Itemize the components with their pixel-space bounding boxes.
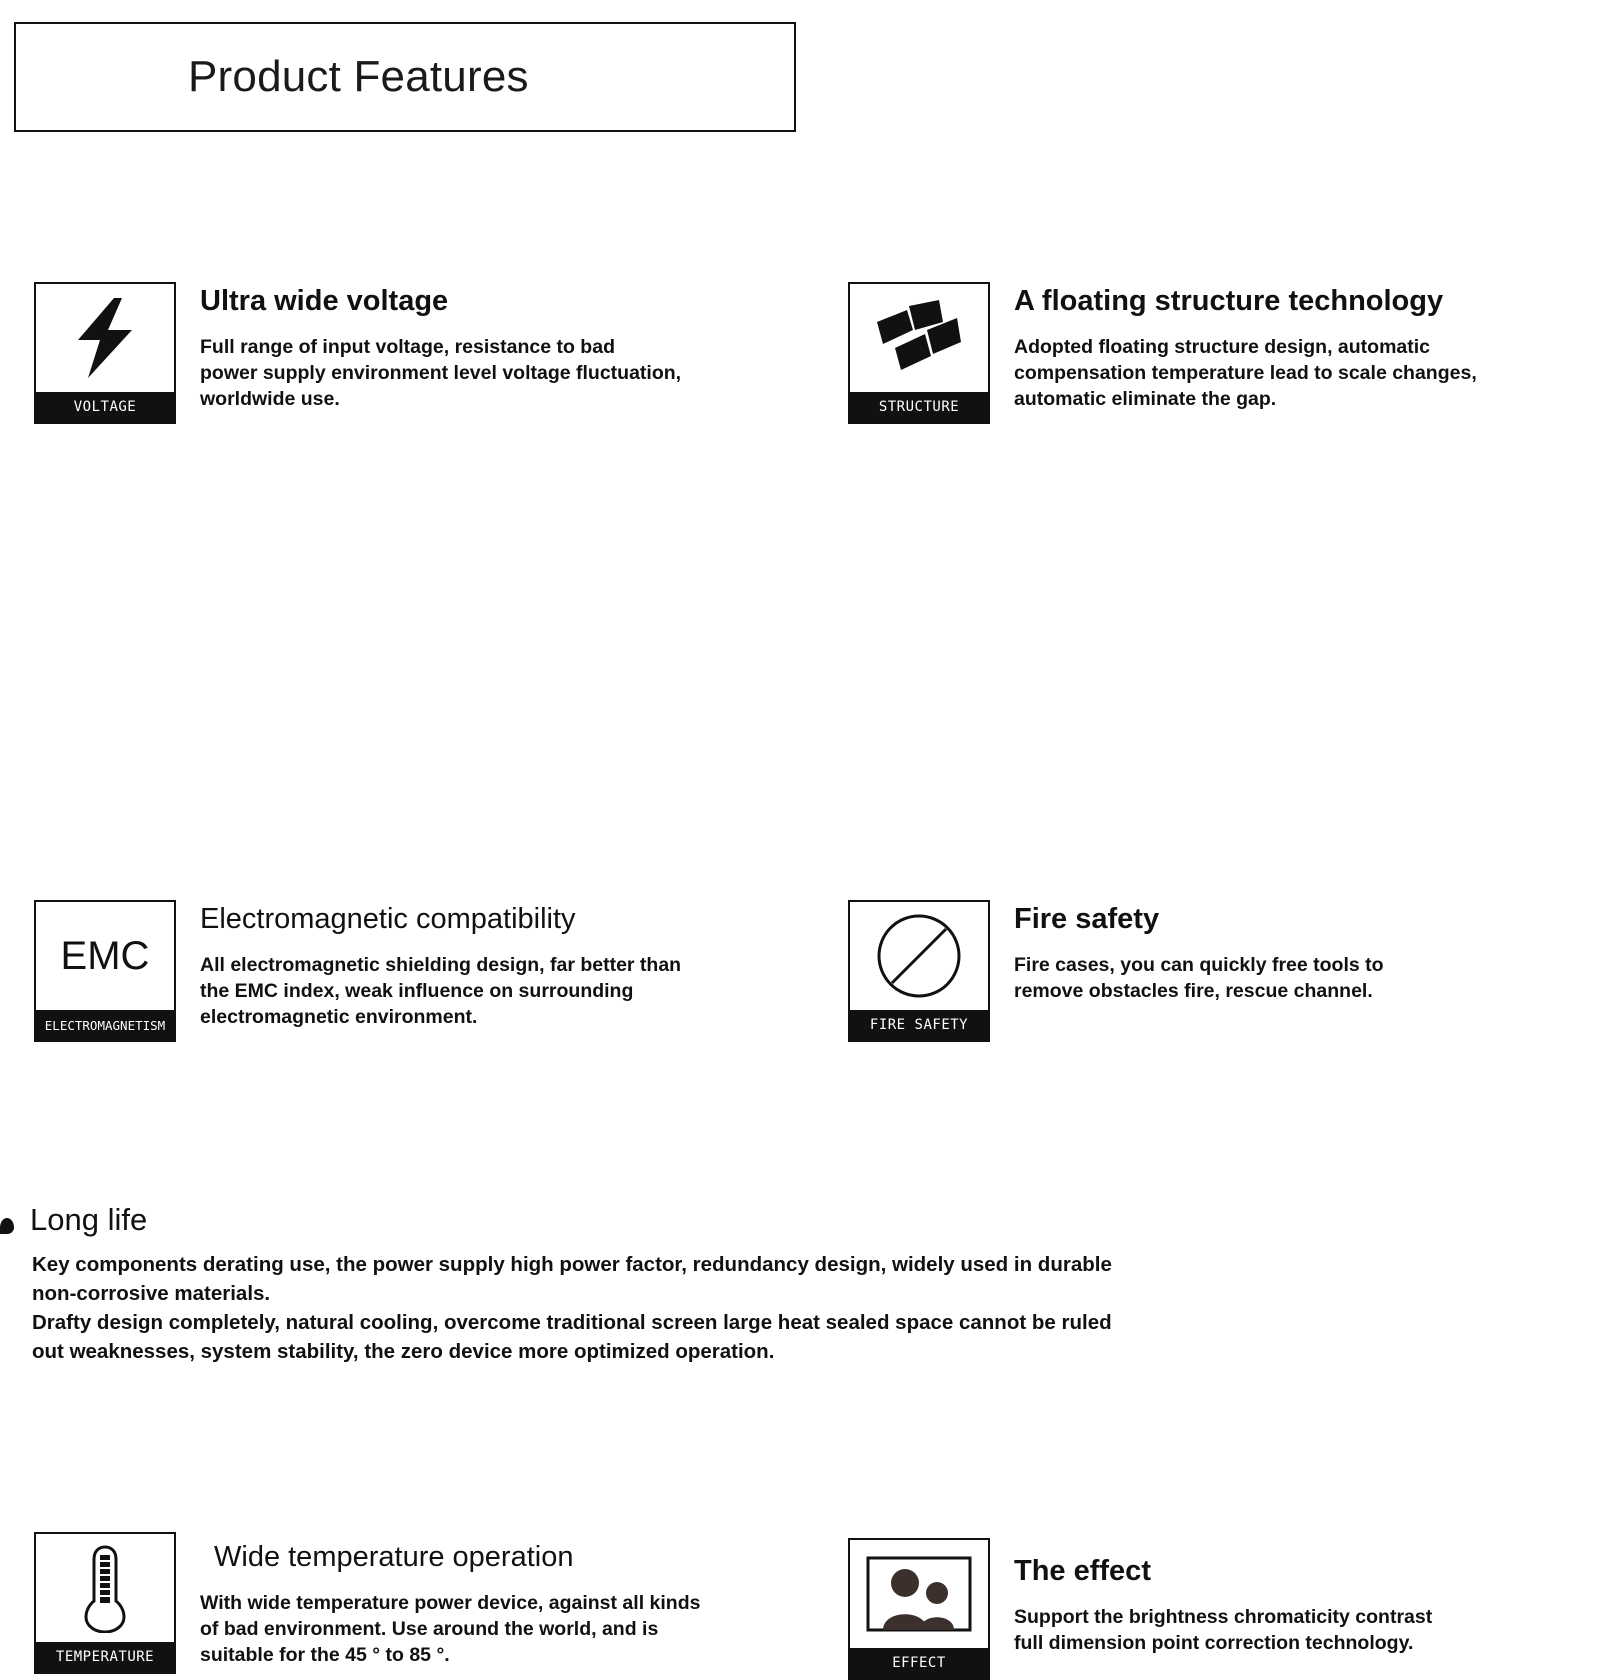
structure-icon-caption: STRUCTURE <box>850 392 988 422</box>
temperature-icon: TEMPERATURE <box>34 1532 176 1674</box>
features-grid: VOLTAGE Ultra wide voltage Full range of… <box>0 282 1600 1202</box>
feature-item-floating-structure: STRUCTURE A floating structure technolog… <box>848 282 1588 424</box>
feature-text: The effect Support the brightness chroma… <box>1014 1538 1432 1656</box>
feature-row: TEMPERATURE Wide temperature operation W… <box>0 902 1600 1202</box>
feature-item-wide-temperature: TEMPERATURE Wide temperature operation W… <box>34 1532 834 1674</box>
feature-description: With wide temperature power device, agai… <box>200 1590 700 1668</box>
structure-icon: STRUCTURE <box>848 282 990 424</box>
feature-text: A floating structure technology Adopted … <box>1014 282 1477 412</box>
feature-text: Wide temperature operation With wide tem… <box>200 1532 700 1668</box>
long-life-title: Long life <box>30 1202 147 1238</box>
feature-title: Ultra wide voltage <box>200 286 681 318</box>
feature-row: VOLTAGE Ultra wide voltage Full range of… <box>0 282 1600 582</box>
feature-item-the-effect: EFFECT The effect Support the brightness… <box>848 1538 1588 1680</box>
feature-row: EMC ELECTROMAGNETISM Electromagnetic com… <box>0 582 1600 902</box>
voltage-bolt-icon <box>36 284 174 392</box>
feature-description: Adopted floating structure design, autom… <box>1014 334 1477 412</box>
feature-title: Wide temperature operation <box>200 1542 700 1574</box>
feature-title: A floating structure technology <box>1014 286 1477 318</box>
long-life-body: Key components derating use, the power s… <box>32 1250 1472 1366</box>
page-title: Product Features <box>16 52 529 102</box>
audience-people-icon <box>850 1540 988 1648</box>
thermometer-icon <box>36 1534 174 1642</box>
feature-text: Ultra wide voltage Full range of input v… <box>200 282 681 412</box>
structure-panels-icon <box>850 284 988 392</box>
bullet-point-icon <box>0 1218 14 1234</box>
effect-icon-caption: EFFECT <box>850 1648 988 1678</box>
voltage-icon-caption: VOLTAGE <box>36 392 174 422</box>
effect-icon: EFFECT <box>848 1538 990 1680</box>
feature-title: The effect <box>1014 1556 1432 1588</box>
temperature-icon-caption: TEMPERATURE <box>36 1642 174 1672</box>
voltage-icon: VOLTAGE <box>34 282 176 424</box>
feature-description: Support the brightness chromaticity cont… <box>1014 1604 1432 1656</box>
feature-item-ultra-wide-voltage: VOLTAGE Ultra wide voltage Full range of… <box>34 282 834 424</box>
page-title-box: Product Features <box>14 22 796 132</box>
feature-description: Full range of input voltage, resistance … <box>200 334 681 412</box>
